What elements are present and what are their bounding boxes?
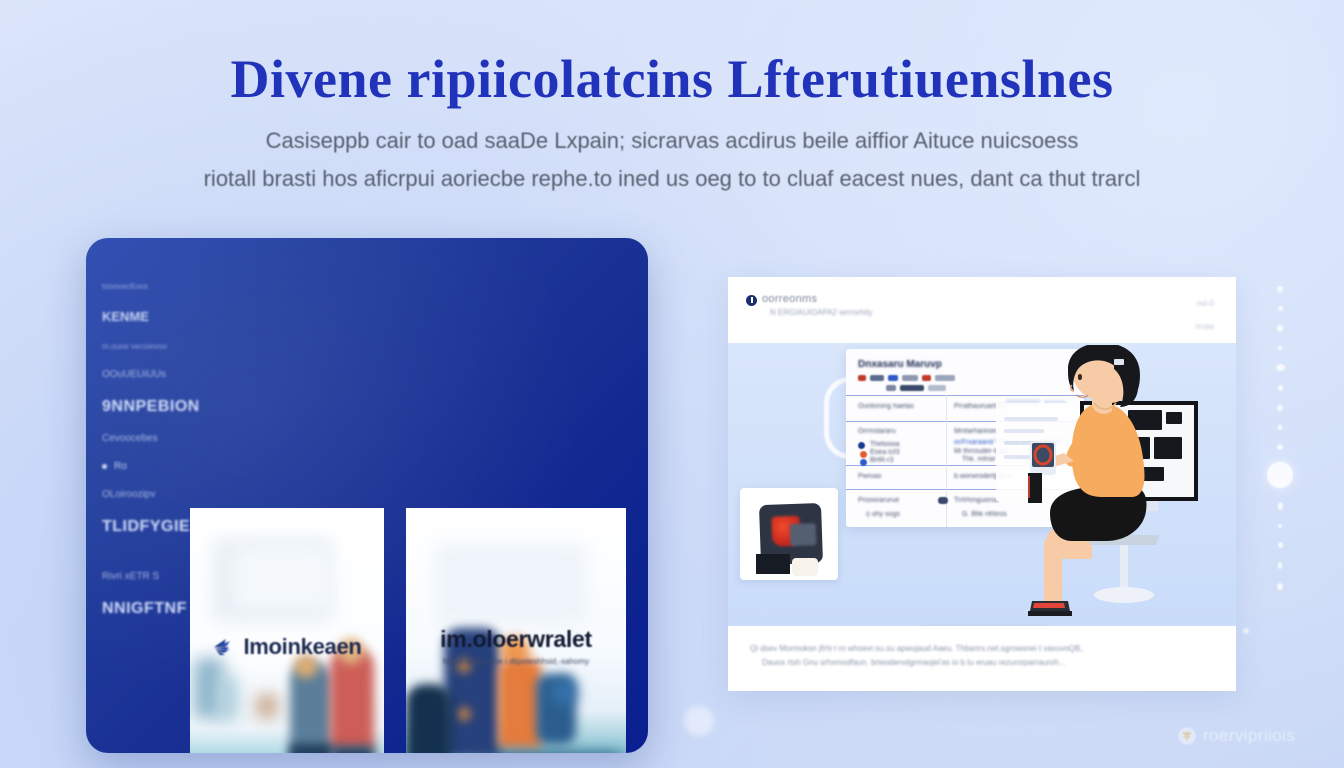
- table-item-left-2: BHR-r3: [870, 457, 893, 464]
- rail-dot[interactable]: [1277, 325, 1283, 332]
- list-icon-1: [860, 451, 867, 458]
- pagination-dot-rail[interactable]: [1268, 286, 1292, 666]
- stray-decor-dot: [1243, 628, 1249, 634]
- card-b-brand: im.oloerwralet Merst obdaud.ne i dtipete…: [406, 626, 626, 666]
- sidebar-item-8[interactable]: TLIDFYGIE: [102, 510, 198, 544]
- sidebar-item-6[interactable]: Ro: [102, 454, 198, 480]
- rail-dot[interactable]: [1277, 583, 1283, 590]
- left-showcase-panel: tooovecKovs KENME m.ouoe vecoievoo OOuUE…: [86, 238, 648, 753]
- left-panel-sidebar[interactable]: tooovecKovs KENME m.ouoe vecoievoo OOuUE…: [94, 266, 198, 736]
- sidebar-item-3[interactable]: OOuUEUiUUs: [102, 362, 198, 388]
- table-row-3-right: Trrtrhmguoroa: [954, 497, 998, 504]
- sidebar-item-1[interactable]: KENME: [102, 302, 198, 332]
- table-window-chiprow-2: [886, 385, 946, 391]
- device-thumbnail-card[interactable]: [740, 488, 838, 580]
- card-a-brand-label: Imoinkeaen: [243, 634, 361, 660]
- table-row-1-left: Orrmstararu: [858, 428, 896, 435]
- table-item-right-2: Thk. mfroe: [962, 456, 995, 463]
- watermark: roervipriiois: [1178, 726, 1295, 746]
- rail-dot[interactable]: [1278, 562, 1282, 569]
- right-mockup-panel: oorreonms N ERGIAUIOAPA2 wrrrorhity nvi-…: [728, 277, 1236, 691]
- card-b-subtitle: Merst obdaud.ne i dtipeteshhsid,-sahomy: [406, 657, 626, 666]
- table-footer-right: G. Bfik nfrbros: [962, 511, 1007, 518]
- card-b-brand-label: im.oloerwralet: [440, 626, 592, 653]
- table-window-chiprow: [858, 375, 955, 381]
- stool-post: [1120, 545, 1128, 589]
- device-content-gray: [790, 523, 817, 546]
- rail-dot-active[interactable]: [1267, 462, 1293, 488]
- device-accessory: [792, 558, 818, 576]
- footer-line-2: Dauos rtsh Gnu srhxmodfaun. brteodervdgr…: [762, 658, 1065, 667]
- sidebar-item-4[interactable]: 9NNPEBION: [102, 390, 198, 424]
- person-illustration: [1028, 345, 1188, 626]
- card-a-brand: Imoinkeaen: [190, 634, 384, 663]
- table-row-2-left: Pwroas: [858, 473, 881, 480]
- screenshot-canvas: Divene ripiicolatcins Lfterutiuenslnes C…: [0, 0, 1344, 768]
- page-title: Divene ripiicolatcins Lfterutiuenslnes: [0, 48, 1344, 110]
- showcase-card-a[interactable]: Imoinkeaen: [190, 508, 384, 753]
- table-row-3-left: Prooorarurue: [858, 497, 899, 504]
- rail-dot[interactable]: [1277, 444, 1283, 450]
- mockup-topbar: oorreonms N ERGIAUIOAPA2 wrrrorhity nvi-…: [728, 277, 1236, 343]
- rail-dot[interactable]: [1278, 346, 1282, 350]
- rail-dot[interactable]: [1278, 524, 1282, 528]
- list-icon-0: [858, 442, 865, 449]
- sidebar-item-7[interactable]: OLoiroozipv: [102, 482, 198, 508]
- rail-dot[interactable]: [1278, 542, 1283, 548]
- topbar-meta-1: nvi-0: [1196, 299, 1214, 308]
- table-row-1-right: Mmtarhareoeu: [954, 428, 1000, 435]
- sidebar-item-10[interactable]: Rivri xETR S: [102, 564, 198, 590]
- info-circle-icon: [746, 295, 757, 306]
- header: Divene ripiicolatcins Lfterutiuenslnes C…: [0, 48, 1344, 198]
- rail-dot[interactable]: [1277, 286, 1283, 292]
- rail-dot[interactable]: [1278, 425, 1282, 430]
- table-footer-left: i) ohy sogs: [866, 511, 900, 518]
- stool-base: [1094, 587, 1154, 603]
- sidebar-spacer: [102, 546, 198, 562]
- list-icon-2: [860, 459, 867, 466]
- toggle-icon[interactable]: [938, 497, 948, 504]
- mockup-footer: Qi dsev Mormoksn jfrhi t ro whoevr.su.su…: [728, 626, 1236, 691]
- rail-dot[interactable]: [1277, 405, 1283, 411]
- table-item-left-0: Thetoooa: [870, 441, 900, 448]
- footer-line-1: Qi dsev Mormoksn jfrhi t ro whoevr.su.su…: [750, 644, 1085, 653]
- rail-dot[interactable]: [1276, 364, 1285, 371]
- fan-logo-icon: [212, 636, 238, 658]
- shelf-box: [1028, 473, 1042, 503]
- leaf-badge-icon: [1178, 727, 1196, 745]
- sidebar-item-0[interactable]: tooovecKovs: [102, 274, 198, 300]
- page-subtitle-line-1: Casiseppb cair to oad saaDe Lxpain; sicr…: [0, 122, 1344, 160]
- watermark-label: roervipriiois: [1203, 726, 1295, 746]
- topbar-title: oorreonms: [762, 293, 873, 305]
- rail-dot[interactable]: [1278, 385, 1283, 391]
- card-a-photo: [190, 508, 384, 753]
- page-subtitle-line-2: riotall brasti hos aficrpui aoriecbe rep…: [0, 160, 1344, 198]
- topbar-right-group: nvi-0 rruso: [1196, 299, 1214, 331]
- mockup-illustration-scene: Dnxasaru Maruvp: [728, 343, 1236, 626]
- table-window-title: Dnxasaru Maruvp: [858, 359, 942, 370]
- hair-clip: [1114, 359, 1124, 365]
- sidebar-item-2[interactable]: m.ouoe vecoievoo: [102, 334, 198, 360]
- device-base: [756, 554, 790, 574]
- showcase-card-b[interactable]: im.oloerwralet Merst obdaud.ne i dtipete…: [406, 508, 626, 753]
- topbar-left-group: oorreonms N ERGIAUIOAPA2 wrrrorhity: [746, 293, 873, 317]
- rail-dot[interactable]: [1278, 306, 1283, 311]
- table-row-0-left: Ountorong haetas: [858, 403, 914, 410]
- sidebar-item-5[interactable]: Cevoocebes: [102, 426, 198, 452]
- bullet-icon: [102, 464, 107, 469]
- table-item-left-1: Eoea tcf3: [870, 449, 900, 456]
- topbar-subtitle: N ERGIAUIOAPA2 wrrrorhity: [770, 308, 873, 317]
- sidebar-item-11[interactable]: NNIGFTNF: [102, 592, 198, 626]
- topbar-meta-2: rruso: [1196, 322, 1214, 331]
- sidebar-item-6-label: Ro: [114, 461, 127, 472]
- person-eye: [1078, 374, 1082, 380]
- rail-dot[interactable]: [1278, 502, 1283, 510]
- decor-bubble: [684, 706, 714, 736]
